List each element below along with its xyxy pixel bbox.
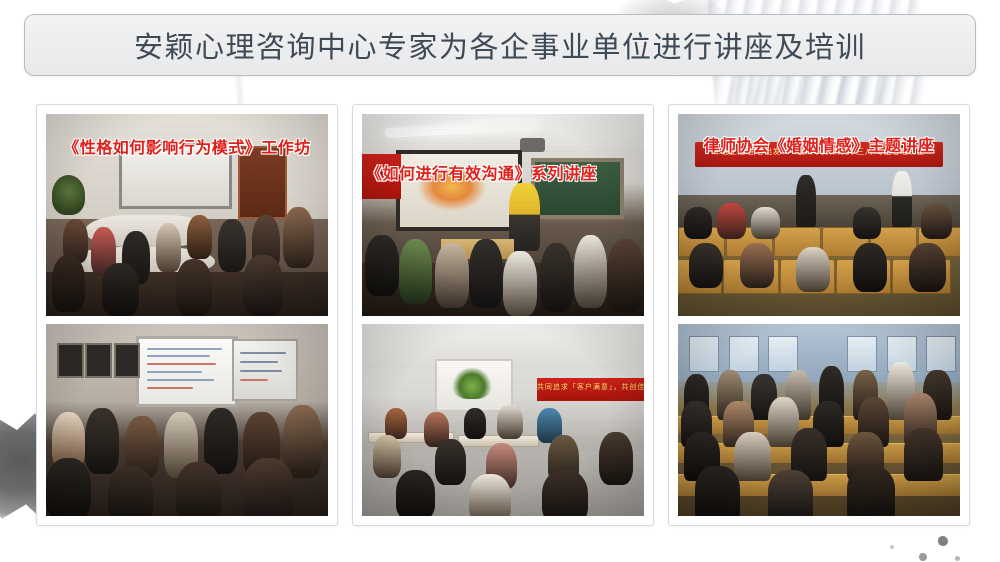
photo-panel-middle[interactable]: 《如何进行有效沟通》系列讲座 共同追求「客户满意」，共创佳绩: [352, 104, 654, 526]
photo-caption-1: 《性格如何影响行为模式》工作坊: [46, 134, 328, 158]
slide-title-bar: 安颖心理咨询中心专家为各企事业单位进行讲座及培训: [24, 14, 976, 76]
slide-canvas: 安颖心理咨询中心专家为各企事业单位进行讲座及培训: [0, 0, 1000, 562]
photo-thumbnail-4[interactable]: 共同追求「客户满意」，共创佳绩: [362, 324, 644, 516]
ink-dot-icon: [955, 556, 960, 561]
photo-scene-hall-crowd: [678, 324, 960, 516]
photo-banner-4: 共同追求「客户满意」，共创佳绩: [537, 378, 644, 401]
photo-scene-classroom: 共同追求「客户满意」，共创佳绩: [362, 324, 644, 516]
photo-banner-text-4: 共同追求「客户满意」，共创佳绩: [537, 382, 644, 392]
photo-thumbnail-5[interactable]: 幸福生活 由心出发——惠州市女律师庆“三八”专题心理讲座: [678, 114, 960, 316]
photo-thumbnail-1[interactable]: 《性格如何影响行为模式》工作坊: [46, 114, 328, 316]
photo-scene-workshop: [46, 324, 328, 516]
photo-caption-3: 《如何进行有效沟通》系列讲座: [362, 160, 644, 184]
photo-caption-5: 律师协会《婚姻情感》主题讲座: [678, 132, 960, 156]
photo-thumbnail-6[interactable]: [678, 324, 960, 516]
photo-panel-group: 《性格如何影响行为模式》工作坊: [36, 104, 970, 526]
photo-thumbnail-3[interactable]: 《如何进行有效沟通》系列讲座: [362, 114, 644, 316]
ink-dot-icon: [890, 545, 894, 549]
page-title: 安颖心理咨询中心专家为各企事业单位进行讲座及培训: [134, 24, 866, 66]
photo-thumbnail-2[interactable]: [46, 324, 328, 516]
ink-dot-icon: [938, 536, 948, 546]
photo-panel-left[interactable]: 《性格如何影响行为模式》工作坊: [36, 104, 338, 526]
photo-panel-right[interactable]: 幸福生活 由心出发——惠州市女律师庆“三八”专题心理讲座: [668, 104, 970, 526]
ink-dot-icon: [919, 553, 927, 561]
photo-scene-lecture: [362, 114, 644, 316]
